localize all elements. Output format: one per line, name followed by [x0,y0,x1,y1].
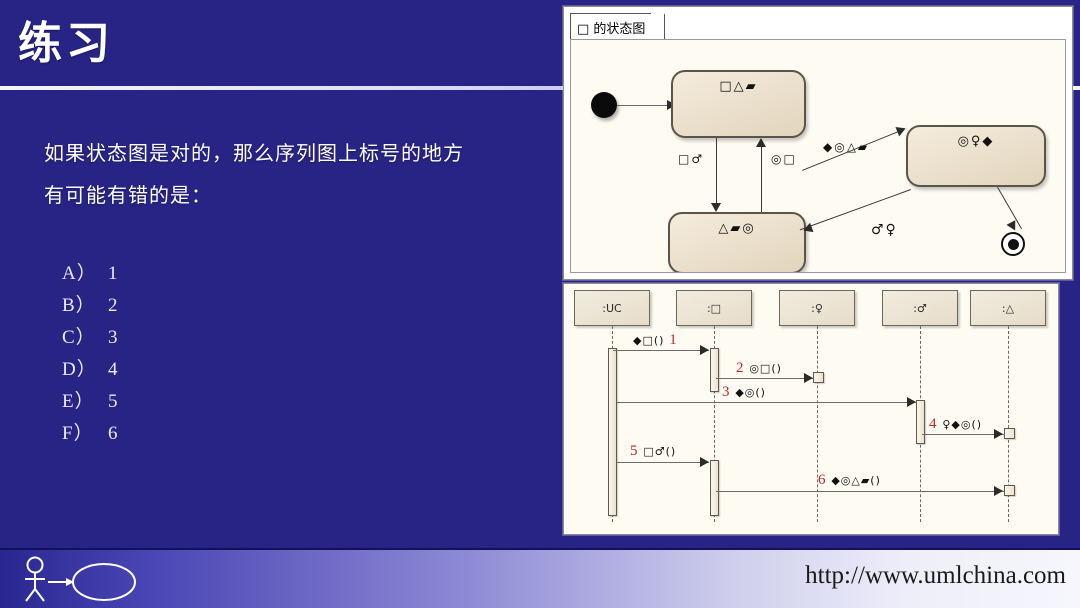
activation-ma-1 [916,400,925,444]
question-line-1: 如果状态图是对的，那么序列图上标号的地方 [44,132,544,174]
state-diagram-panel: □ 的状态图 □△▰ △▰◎ ◎♀◆ □♂ [563,6,1073,280]
message-5-signature: □♂() [643,445,676,458]
activation-sq-1 [710,348,719,392]
message-3-arrow [907,397,916,407]
message-1-signature: ◆□() [633,334,664,347]
option-d-value: 4 [108,359,119,380]
state-node-s1-label: □△▰ [719,79,757,94]
message-6-arrow [994,486,1003,496]
options-list: A）1 B）2 C）3 D）4 E）5 F）6 [62,258,119,450]
option-b-label: B） [62,290,108,322]
message-6-label: 6 ◆◎△▰() [818,472,881,489]
footer-url[interactable]: http://www.umlchina.com [805,562,1066,590]
page-title: 练习 [18,22,114,66]
option-a[interactable]: A）1 [62,258,119,290]
option-d-label: D） [62,354,108,386]
transition-s2-s1-label: ◎□ [771,152,797,166]
message-2-label: 2 ◎□() [736,360,782,377]
sequence-diagram-canvas: :UC :□ :♀ :♂ :△ ◆□() 1 [564,284,1058,534]
transition-initial-s1-line [617,105,671,106]
message-5-label: 5 □♂() [630,443,676,460]
state-diagram-tab: □ 的状态图 [570,13,651,41]
option-e-value: 5 [108,391,119,412]
question-line-2: 有可能有错的是： [44,174,544,216]
option-d[interactable]: D）4 [62,354,119,386]
actor-usecase-icon [18,556,168,604]
state-node-s1[interactable]: □△▰ [671,70,806,138]
option-c-label: C） [62,322,108,354]
message-3-number: 3 [722,384,731,400]
option-b[interactable]: B）2 [62,290,119,322]
lifeline-head-uc-label: :UC [602,302,621,315]
lifeline-head-ma[interactable]: :♂ [882,290,958,326]
transition-s1-s2-label: □♂ [678,152,704,166]
activation-tr-1 [1004,428,1015,439]
message-6-line [716,491,1004,492]
option-a-label: A） [62,258,108,290]
message-2-number: 2 [736,360,745,376]
state-node-s2-label: △▰◎ [718,221,755,236]
lifeline-head-ma-label: :♂ [913,302,927,315]
transition-s2-s3-label: ◆◎△▰ [823,140,869,154]
state-diagram-tab-label: □ 的状态图 [577,18,645,37]
option-e[interactable]: E）5 [62,386,119,418]
option-b-value: 2 [108,295,119,316]
activation-tr-2 [1004,485,1015,496]
lifeline-head-sq-label: :□ [707,302,721,315]
lifeline-head-uc[interactable]: :UC [574,290,650,326]
message-2-arrow [804,373,813,383]
state-node-s2[interactable]: △▰◎ [668,212,806,273]
message-4-label: 4 ♀◆◎() [929,416,982,433]
option-e-label: E） [62,386,108,418]
transition-s1-s2-arrow [711,203,721,212]
option-c[interactable]: C）3 [62,322,119,354]
message-1-number: 1 [669,332,678,348]
option-c-value: 3 [108,327,119,348]
activation-ve-1 [813,372,824,383]
message-4-signature: ♀◆◎() [942,418,982,431]
transition-s1-s2-line [716,138,717,206]
message-4-number: 4 [929,416,938,432]
option-f-value: 6 [108,423,119,444]
activation-sq-2 [710,460,719,516]
initial-state-icon [591,92,617,118]
message-4-line [922,434,1005,435]
transition-s2-s1-line [761,144,762,212]
message-1-line [613,350,709,351]
sequence-diagram-panel: :UC :□ :♀ :♂ :△ ◆□() 1 [563,283,1059,535]
transition-s3-s2-label: ♂♀ [871,222,898,238]
transition-s2-s1-arrow [756,138,766,147]
message-2-line [716,378,814,379]
state-diagram-canvas: □△▰ △▰◎ ◎♀◆ □♂ ◎□ ◆◎△▰ [570,39,1066,273]
message-3-signature: ◆◎() [735,386,766,399]
activation-uc [608,348,617,516]
option-a-value: 1 [108,263,119,284]
lifeline-ve [817,326,818,522]
message-3-label: 3 ◆◎() [722,384,766,401]
lifeline-head-ve-label: :♀ [811,302,823,315]
message-5-number: 5 [630,443,639,459]
message-5-arrow [700,457,709,467]
message-5-line [617,462,709,463]
message-4-arrow [994,429,1003,439]
message-6-signature: ◆◎△▰() [831,474,881,487]
state-node-s3-label: ◎♀◆ [958,134,995,149]
final-state-icon [1001,232,1025,256]
state-node-s3[interactable]: ◎♀◆ [906,125,1046,187]
slide-root: 练习 如果状态图是对的，那么序列图上标号的地方 有可能有错的是： A）1 B）2… [0,0,1080,608]
option-f-label: F） [62,418,108,450]
message-1-arrow [700,345,709,355]
message-6-number: 6 [818,472,827,488]
message-3-line [617,402,917,403]
lifeline-head-tr[interactable]: :△ [970,290,1046,326]
message-2-signature: ◎□() [749,362,782,375]
question-text: 如果状态图是对的，那么序列图上标号的地方 有可能有错的是： [44,132,544,216]
message-1-label: ◆□() 1 [633,332,678,349]
lifeline-head-tr-label: :△ [1002,302,1014,315]
lifeline-head-ve[interactable]: :♀ [779,290,855,326]
option-f[interactable]: F）6 [62,418,119,450]
footer-bar: http://www.umlchina.com [0,548,1080,608]
lifeline-head-sq[interactable]: :□ [676,290,752,326]
